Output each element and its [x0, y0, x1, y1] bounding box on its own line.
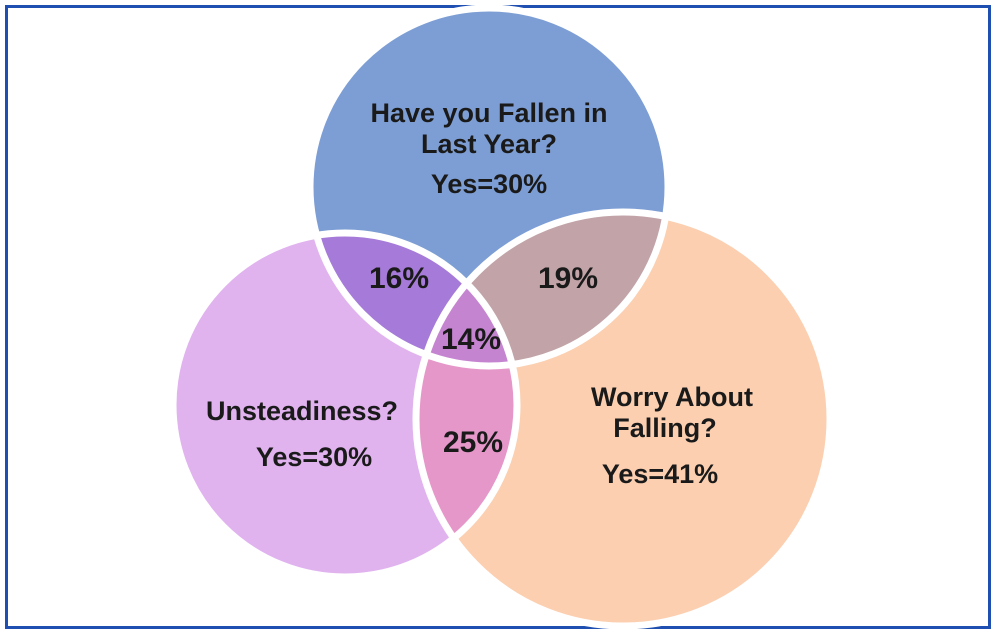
- venn-diagram-figure: Have you Fallen in Last Year? Yes=30% Un…: [0, 0, 1000, 638]
- set-value-worry: Yes=41%: [602, 459, 718, 489]
- set-label-worry-line1: Worry About: [591, 382, 753, 412]
- intersection-label-fallen-worry: 19%: [538, 262, 598, 295]
- set-label-unsteadiness-line1: Unsteadiness?: [206, 396, 398, 426]
- set-label-fallen-line1: Have you Fallen in: [370, 98, 607, 128]
- intersection-label-all-three: 14%: [441, 323, 501, 356]
- set-value-unsteadiness: Yes=30%: [256, 442, 372, 472]
- set-label-worry-line2: Falling?: [613, 413, 717, 443]
- set-value-fallen: Yes=30%: [431, 169, 547, 199]
- intersection-label-unsteadiness-worry: 25%: [443, 426, 503, 459]
- set-label-fallen-line2: Last Year?: [421, 129, 557, 159]
- venn-canvas: Have you Fallen in Last Year? Yes=30% Un…: [0, 0, 1000, 638]
- intersection-label-fallen-unsteadiness: 16%: [369, 262, 429, 295]
